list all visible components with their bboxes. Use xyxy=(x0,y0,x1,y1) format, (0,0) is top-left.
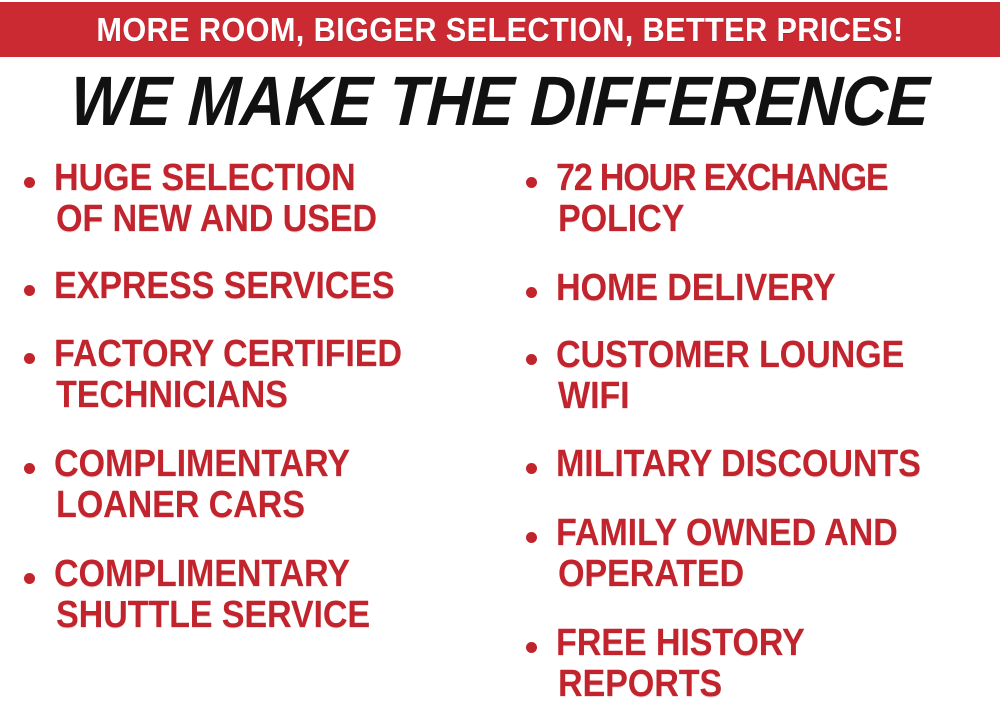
benefit-item-line: EXPRESS SERVICES xyxy=(54,266,450,307)
benefits-column-left: HUGE SELECTIONOF NEW AND USEDEXPRESS SER… xyxy=(14,158,494,636)
benefits-column-right: 72 HOUR EXCHANGEPOLICYHOME DELIVERYCUSTO… xyxy=(516,158,1000,705)
benefit-item-text: FAMILY OWNED ANDOPERATED xyxy=(556,513,1000,595)
benefit-item: HUGE SELECTIONOF NEW AND USED xyxy=(14,158,494,240)
benefit-item-line: WIFI xyxy=(558,376,956,417)
bullet-dot-icon xyxy=(24,177,35,188)
benefit-item: CUSTOMER LOUNGEWIFI xyxy=(516,335,1000,417)
bullet-dot-icon xyxy=(526,642,537,653)
benefit-item: 72 HOUR EXCHANGEPOLICY xyxy=(516,158,1000,240)
page-title: WE MAKE THE DIFFERENCE xyxy=(69,66,930,136)
bullet-dot-icon xyxy=(24,463,35,474)
benefit-item: FACTORY CERTIFIEDTECHNICIANS xyxy=(14,334,494,416)
benefit-item: COMPLIMENTARYSHUTTLE SERVICE xyxy=(14,554,494,636)
bullet-dot-icon xyxy=(24,285,35,296)
benefit-item-line: REPORTS xyxy=(558,664,956,705)
benefit-item-text: 72 HOUR EXCHANGEPOLICY xyxy=(556,158,1000,240)
benefit-item: FAMILY OWNED ANDOPERATED xyxy=(516,513,1000,595)
benefit-item-line: MILITARY DISCOUNTS xyxy=(556,444,956,485)
benefit-item-line: COMPLIMENTARY xyxy=(54,554,450,595)
benefit-item-line: LOANER CARS xyxy=(56,485,450,526)
benefit-item: FREE HISTORYREPORTS xyxy=(516,623,1000,705)
benefit-item-text: HUGE SELECTIONOF NEW AND USED xyxy=(54,158,494,240)
benefit-item-text: HOME DELIVERY xyxy=(556,268,1000,309)
bullet-dot-icon xyxy=(24,353,35,364)
bullet-dot-icon xyxy=(526,354,537,365)
bullet-dot-icon xyxy=(526,177,537,188)
benefit-item-text: FACTORY CERTIFIEDTECHNICIANS xyxy=(54,334,494,416)
benefit-item-line: HUGE SELECTION xyxy=(54,158,450,199)
benefit-item: HOME DELIVERY xyxy=(516,268,1000,309)
benefit-item-text: COMPLIMENTARYLOANER CARS xyxy=(54,444,494,526)
benefit-item-line: FACTORY CERTIFIED xyxy=(54,334,450,375)
benefit-item-line: OPERATED xyxy=(558,554,956,595)
promotional-poster: MORE ROOM, BIGGER SELECTION, BETTER PRIC… xyxy=(0,0,1000,694)
benefits-columns: HUGE SELECTIONOF NEW AND USEDEXPRESS SER… xyxy=(0,158,1000,694)
benefit-item-line: CUSTOMER LOUNGE xyxy=(556,335,956,376)
benefit-item-line: HOME DELIVERY xyxy=(556,268,956,309)
benefit-item-text: CUSTOMER LOUNGEWIFI xyxy=(556,335,1000,417)
top-banner: MORE ROOM, BIGGER SELECTION, BETTER PRIC… xyxy=(0,2,1000,57)
benefit-item-line: 72 HOUR EXCHANGE xyxy=(556,158,956,199)
benefit-item-text: MILITARY DISCOUNTS xyxy=(556,444,1000,485)
benefit-item: MILITARY DISCOUNTS xyxy=(516,444,1000,485)
bullet-dot-icon xyxy=(526,532,537,543)
benefit-item-text: COMPLIMENTARYSHUTTLE SERVICE xyxy=(54,554,494,636)
benefit-item-line: POLICY xyxy=(558,199,956,240)
benefit-item-line: COMPLIMENTARY xyxy=(54,444,450,485)
benefit-item-line: SHUTTLE SERVICE xyxy=(56,595,450,636)
top-banner-text: MORE ROOM, BIGGER SELECTION, BETTER PRIC… xyxy=(96,13,903,46)
benefit-item: EXPRESS SERVICES xyxy=(14,266,494,307)
benefit-item-text: EXPRESS SERVICES xyxy=(54,266,494,307)
benefit-item-line: OF NEW AND USED xyxy=(56,199,450,240)
bullet-dot-icon xyxy=(24,573,35,584)
bullet-dot-icon xyxy=(526,287,537,298)
benefit-item: COMPLIMENTARYLOANER CARS xyxy=(14,444,494,526)
benefit-item-line: TECHNICIANS xyxy=(56,375,450,416)
benefit-item-line: FREE HISTORY xyxy=(556,623,956,664)
benefit-item-line: FAMILY OWNED AND xyxy=(556,513,956,554)
bullet-dot-icon xyxy=(526,463,537,474)
headline-container: WE MAKE THE DIFFERENCE xyxy=(0,66,1000,136)
benefit-item-text: FREE HISTORYREPORTS xyxy=(556,623,1000,705)
